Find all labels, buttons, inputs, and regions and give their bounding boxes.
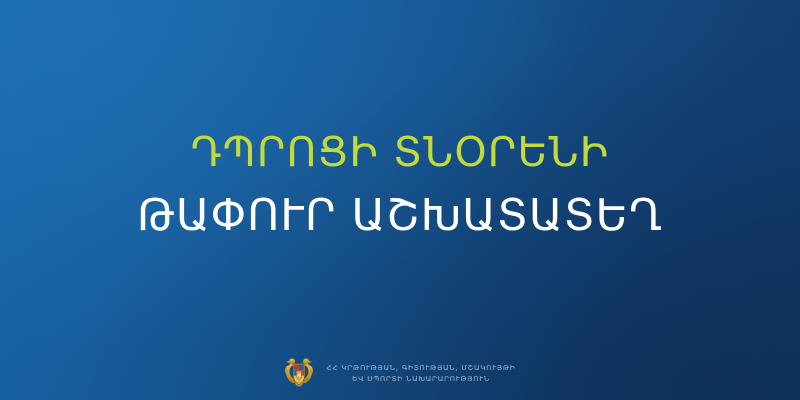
ministry-line-2: ԵՎ ՍՊՈՐՏԻ ՆԱԽԱՐԱՐՈՒԹՅՈՒՆ [326,373,515,384]
headline-line-2: ԹԱՓՈՒՐ ԱՇԽԱՏԱՏԵՂ [0,190,800,242]
announcement-banner: ԴՊՐՈՑԻ ՏՆՕՐԵՆԻ ԹԱՓՈՒՐ ԱՇԽԱՏԱՏԵՂ [0,0,800,400]
headline-block: ԴՊՐՈՑԻ ՏՆՕՐԵՆԻ ԹԱՓՈՒՐ ԱՇԽԱՏԱՏԵՂ [0,128,800,242]
ministry-name: ՀՀ ԿՐԹՈՒԹՅԱՆ, ԳԻՏՈՒԹՅԱՆ, ՄՇԱԿՈՒՅԹԻ ԵՎ ՍՊ… [326,362,515,384]
footer-ministry-lockup: ՀՀ ԿՐԹՈՒԹՅԱՆ, ԳԻՏՈՒԹՅԱՆ, ՄՇԱԿՈՒՅԹԻ ԵՎ ՍՊ… [0,356,800,390]
headline-line-1: ԴՊՐՈՑԻ ՏՆՕՐԵՆԻ [0,128,800,176]
ministry-line-1: ՀՀ ԿՐԹՈՒԹՅԱՆ, ԳԻՏՈՒԹՅԱՆ, ՄՇԱԿՈՒՅԹԻ [326,362,515,373]
armenia-coat-of-arms-icon [284,356,314,390]
